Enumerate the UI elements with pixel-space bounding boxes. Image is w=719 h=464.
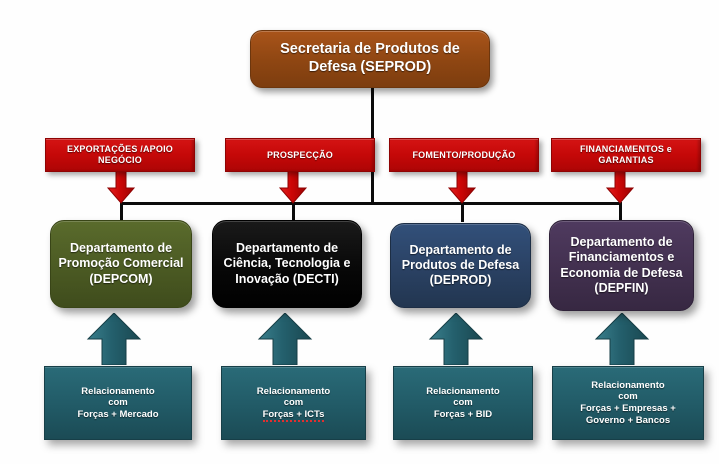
relationship-line-1: Relacionamento <box>81 386 154 397</box>
red-down-arrow-icon <box>447 170 477 204</box>
connector-drop-decti <box>292 202 295 222</box>
dept-node-depfin[interactable]: Departamento de Financiamentos e Economi… <box>549 220 694 311</box>
dept-node-decti[interactable]: Departamento de Ciência, Tecnologia e In… <box>212 220 362 308</box>
dept-node-label: Departamento de Ciência, Tecnologia e In… <box>213 241 361 287</box>
dept-node-label: Departamento de Produtos de Defesa (DEPR… <box>391 243 530 289</box>
relationship-node-icts[interactable]: Relacionamento com Forças + ICTs <box>221 366 366 440</box>
red-down-arrow-icon <box>605 170 635 204</box>
relationship-node-mercado[interactable]: Relacionamento com Forças + Mercado <box>44 366 192 440</box>
relationship-line-3: Forças + Mercado <box>77 409 158 420</box>
tag-financiamentos-garantias[interactable]: FINANCIAMENTOS e GARANTIAS <box>551 138 701 172</box>
relationship-line-2: com <box>284 397 304 408</box>
dept-node-label: Departamento de Financiamentos e Economi… <box>550 235 693 296</box>
tag-label: FINANCIAMENTOS e GARANTIAS <box>552 144 700 166</box>
root-node-seprod[interactable]: Secretaria de Produtos de Defesa (SEPROD… <box>250 30 490 88</box>
tag-prospeccao[interactable]: PROSPECÇÃO <box>225 138 375 172</box>
dept-node-depcom[interactable]: Departamento de Promoção Comercial (DEPC… <box>50 220 192 308</box>
tag-fomento-producao[interactable]: FOMENTO/PRODUÇÃO <box>389 138 539 172</box>
root-node-label: Secretaria de Produtos de Defesa (SEPROD… <box>251 41 489 76</box>
relationship-line-2: com <box>618 391 638 402</box>
org-chart-canvas: Secretaria de Produtos de Defesa (SEPROD… <box>0 0 719 464</box>
relationship-line-3: Forças + ICTs <box>263 409 325 422</box>
relationship-line-2: com <box>108 397 128 408</box>
dept-node-label: Departamento de Promoção Comercial (DEPC… <box>51 241 191 287</box>
relationship-line-2: com <box>453 397 473 408</box>
relationship-line-1: Relacionamento <box>257 386 330 397</box>
tag-label: PROSPECÇÃO <box>226 150 374 161</box>
relationship-node-empresas-governo-bancos[interactable]: Relacionamento com Forças + Empresas + G… <box>552 366 704 440</box>
tag-label: EXPORTAÇÕES /APOIO NEGÓCIO <box>46 144 194 166</box>
connector-drop-deprod <box>461 202 464 222</box>
dept-node-deprod[interactable]: Departamento de Produtos de Defesa (DEPR… <box>390 223 531 308</box>
relationship-line-1: Relacionamento <box>591 380 664 391</box>
connector-horizontal-bus <box>121 202 621 205</box>
teal-up-arrow-icon <box>85 313 143 365</box>
red-down-arrow-icon <box>106 170 136 204</box>
teal-up-arrow-icon <box>593 313 651 365</box>
red-down-arrow-icon <box>278 170 308 204</box>
tag-exportacoes-apoio-negocio[interactable]: EXPORTAÇÕES /APOIO NEGÓCIO <box>45 138 195 172</box>
connector-drop-depcom <box>120 202 123 222</box>
relationship-line-3: Forças + Empresas + <box>580 403 676 414</box>
relationship-node-bid[interactable]: Relacionamento com Forças + BID <box>393 366 533 440</box>
relationship-line-4: Governo + Bancos <box>586 415 670 426</box>
relationship-line-3: Forças + BID <box>434 409 492 420</box>
tag-label: FOMENTO/PRODUÇÃO <box>390 150 538 161</box>
teal-up-arrow-icon <box>427 313 485 365</box>
relationship-line-1: Relacionamento <box>426 386 499 397</box>
connector-drop-depfin <box>619 202 622 222</box>
teal-up-arrow-icon <box>256 313 314 365</box>
